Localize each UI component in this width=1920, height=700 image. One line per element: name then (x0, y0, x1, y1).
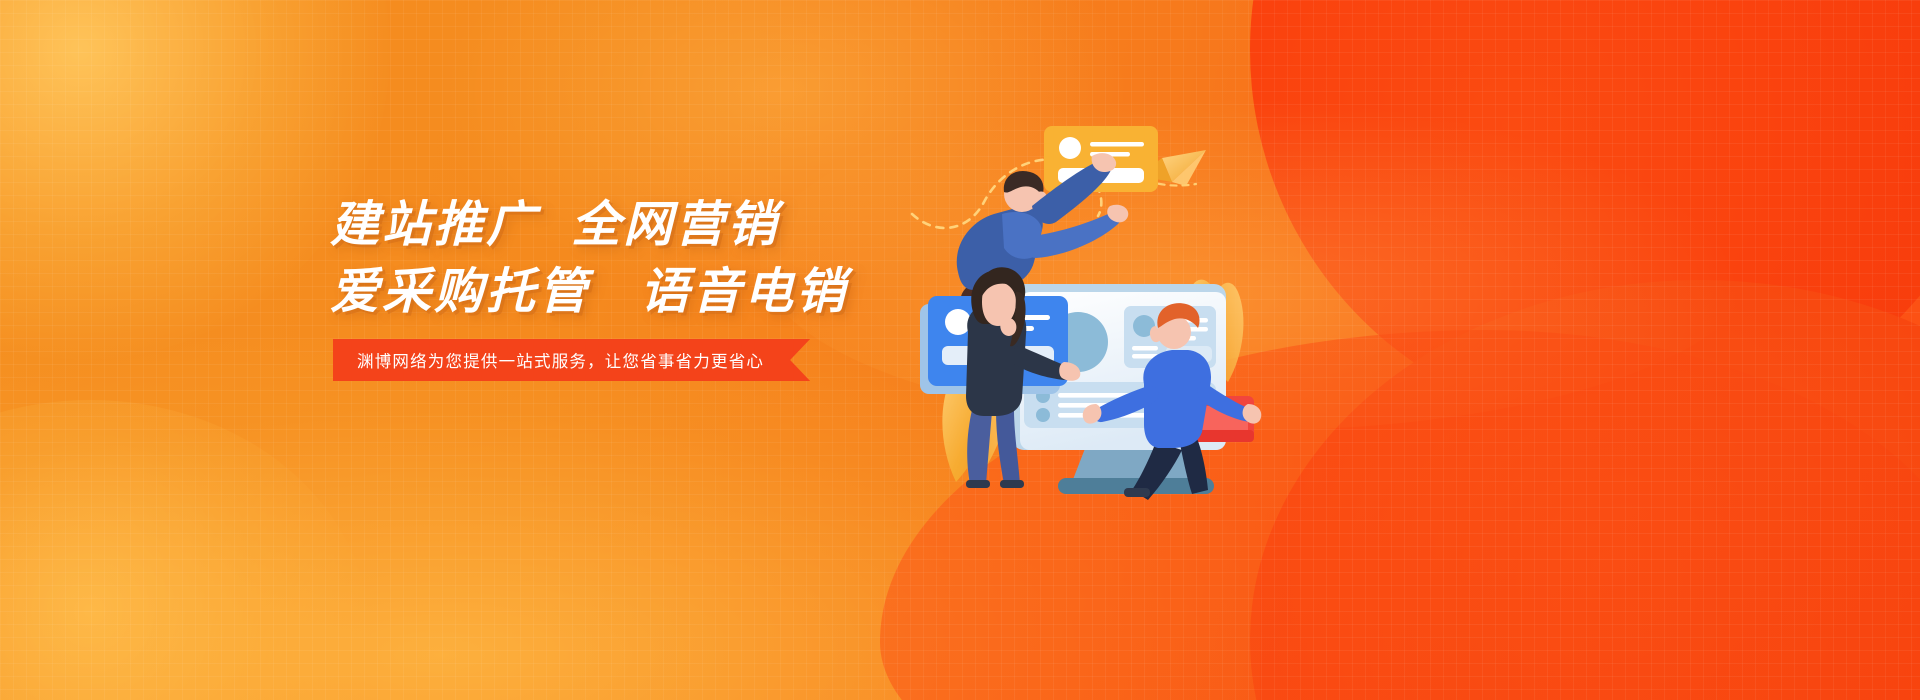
headline-line-2: 爱采购托管 语音电销 (330, 263, 848, 323)
subtitle-ribbon: 渊博网络为您提供一站式服务，让您省事省力更省心 (333, 339, 810, 381)
headline-block: 建站推广 全网营销 爱采购托管 语音电销 (330, 196, 848, 323)
promo-banner: 建站推广 全网营销 爱采购托管 语音电销 渊博网络为您提供一站式服务，让您省事省… (0, 0, 1920, 700)
headline-line-1: 建站推广 全网营销 (330, 196, 848, 256)
red-blob-bottom-right (1250, 280, 1920, 700)
hero-illustration (900, 110, 1320, 510)
glow-bottom-left-decoration (0, 400, 370, 700)
red-blob-top-right (1250, 0, 1920, 430)
